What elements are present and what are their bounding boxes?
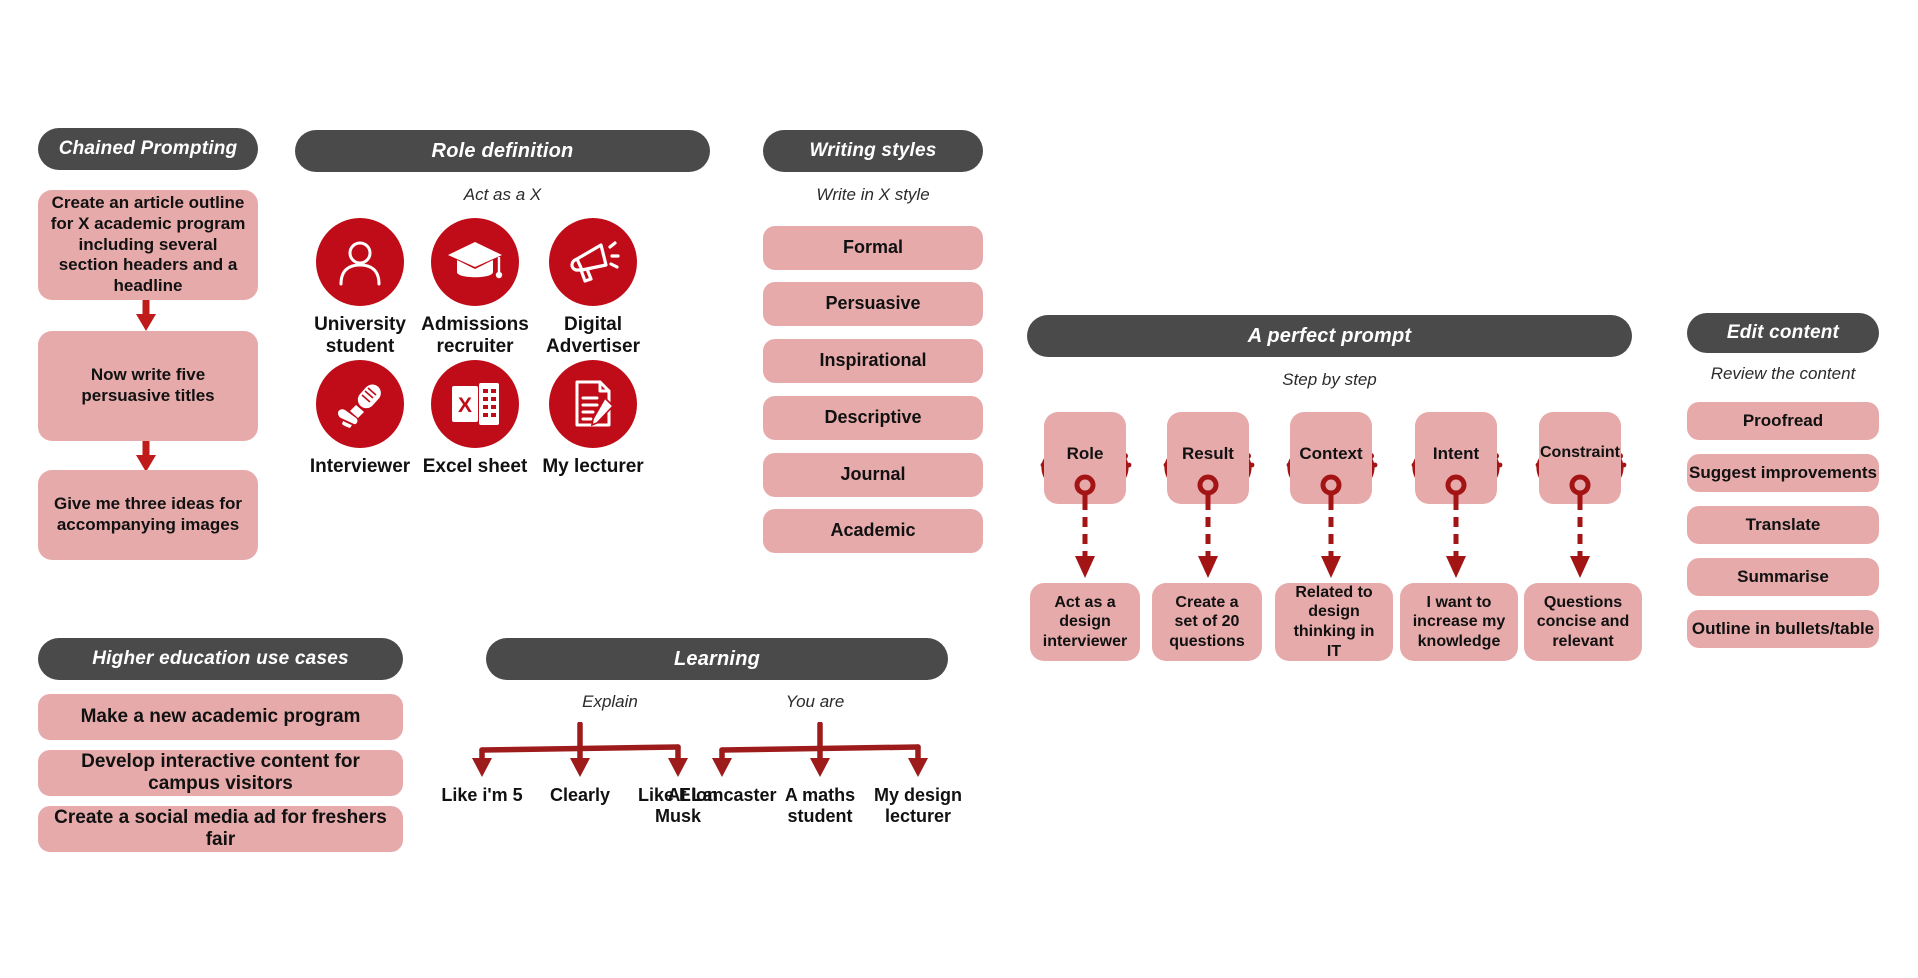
role-card-digital-advertiser[interactable]: Digital Advertiser <box>518 218 668 357</box>
writing-style-item[interactable]: Formal <box>763 226 983 270</box>
svg-text:X: X <box>458 394 472 417</box>
perfect-prompt-arrow <box>1443 500 1469 582</box>
section-title-learning: Learning <box>486 638 948 680</box>
learning-leaf-label: My design lecturer <box>858 785 978 826</box>
perfect-prompt-arrow <box>1072 500 1098 582</box>
edit-content-subtitle: Review the content <box>1687 364 1879 384</box>
learning-branch-label-explain: Explain <box>520 692 700 712</box>
role-label: Digital Advertiser <box>518 314 668 357</box>
chained-step-3[interactable]: Give me three ideas for accompanying ima… <box>38 470 258 560</box>
perfect-prompt-example[interactable]: Questions concise and relevant <box>1524 583 1642 661</box>
learning-branch-label-you-are: You are <box>725 692 905 712</box>
section-title-chained-prompting: Chained Prompting <box>38 128 258 170</box>
higher-education-item[interactable]: Create a social media ad for freshers fa… <box>38 806 403 852</box>
edit-content-item[interactable]: Proofread <box>1687 402 1879 440</box>
writing-style-item[interactable]: Persuasive <box>763 282 983 326</box>
chained-step-2[interactable]: Now write five persuasive titles <box>38 331 258 441</box>
puzzle-piece-context[interactable]: Context <box>1281 412 1381 508</box>
edit-content-item[interactable]: Translate <box>1687 506 1879 544</box>
higher-education-item[interactable]: Develop interactive content for campus v… <box>38 750 403 796</box>
perfect-prompt-example[interactable]: Act as a design interviewer <box>1030 583 1140 661</box>
role-definition-subtitle: Act as a X <box>295 185 710 205</box>
perfect-prompt-subtitle: Step by step <box>1027 370 1632 390</box>
section-title-role-definition: Role definition <box>295 130 710 172</box>
puzzle-piece-role[interactable]: Role <box>1035 412 1135 508</box>
section-chained-prompting: Chained Prompting <box>38 128 258 170</box>
role-card-my-lecturer[interactable]: My lecturer <box>518 360 668 478</box>
edit-content-item[interactable]: Summarise <box>1687 558 1879 596</box>
puzzle-piece-intent[interactable]: Intent <box>1406 412 1506 508</box>
puzzle-label: Result <box>1158 444 1258 464</box>
edit-content-item[interactable]: Suggest improvements <box>1687 454 1879 492</box>
puzzle-label: Role <box>1035 444 1135 464</box>
graduation-cap-icon <box>431 218 519 306</box>
role-label: My lecturer <box>518 456 668 478</box>
chained-arrow-1 <box>133 300 159 332</box>
chained-arrow-2 <box>133 441 159 473</box>
section-title-higher-education: Higher education use cases <box>38 638 403 680</box>
learning-branch-arrows-you-are <box>700 722 940 782</box>
person-icon <box>316 218 404 306</box>
learning-branch-arrows-explain <box>460 722 700 782</box>
puzzle-label: Context <box>1281 444 1381 464</box>
megaphone-icon <box>549 218 637 306</box>
perfect-prompt-example[interactable]: Related to design thinking in IT <box>1275 583 1393 661</box>
perfect-prompt-example[interactable]: I want to increase my knowledge <box>1400 583 1518 661</box>
perfect-prompt-example[interactable]: Create a set of 20 questions <box>1152 583 1262 661</box>
puzzle-piece-result[interactable]: Result <box>1158 412 1258 508</box>
edit-content-item[interactable]: Outline in bullets/table <box>1687 610 1879 648</box>
section-title-writing-styles: Writing styles <box>763 130 983 172</box>
puzzle-piece-constraint[interactable]: Constraint <box>1530 412 1630 508</box>
puzzle-label: Intent <box>1406 444 1506 464</box>
perfect-prompt-arrow <box>1318 500 1344 582</box>
perfect-prompt-arrow <box>1195 500 1221 582</box>
infographic-canvas: Chained Prompting Create an article outl… <box>0 0 1918 978</box>
perfect-prompt-arrow <box>1567 500 1593 582</box>
chained-step-1[interactable]: Create an article outline for X academic… <box>38 190 258 300</box>
higher-education-item[interactable]: Make a new academic program <box>38 694 403 740</box>
section-title-edit-content: Edit content <box>1687 313 1879 353</box>
writing-style-item[interactable]: Descriptive <box>763 396 983 440</box>
writing-styles-subtitle: Write in X style <box>763 185 983 205</box>
excel-icon: X <box>431 360 519 448</box>
puzzle-label: Constraint <box>1530 444 1630 462</box>
writing-style-item[interactable]: Journal <box>763 453 983 497</box>
writing-style-item[interactable]: Inspirational <box>763 339 983 383</box>
microphone-handshake-icon <box>316 360 404 448</box>
section-title-perfect-prompt: A perfect prompt <box>1027 315 1632 357</box>
writing-style-item[interactable]: Academic <box>763 509 983 553</box>
document-pencil-icon <box>549 360 637 448</box>
